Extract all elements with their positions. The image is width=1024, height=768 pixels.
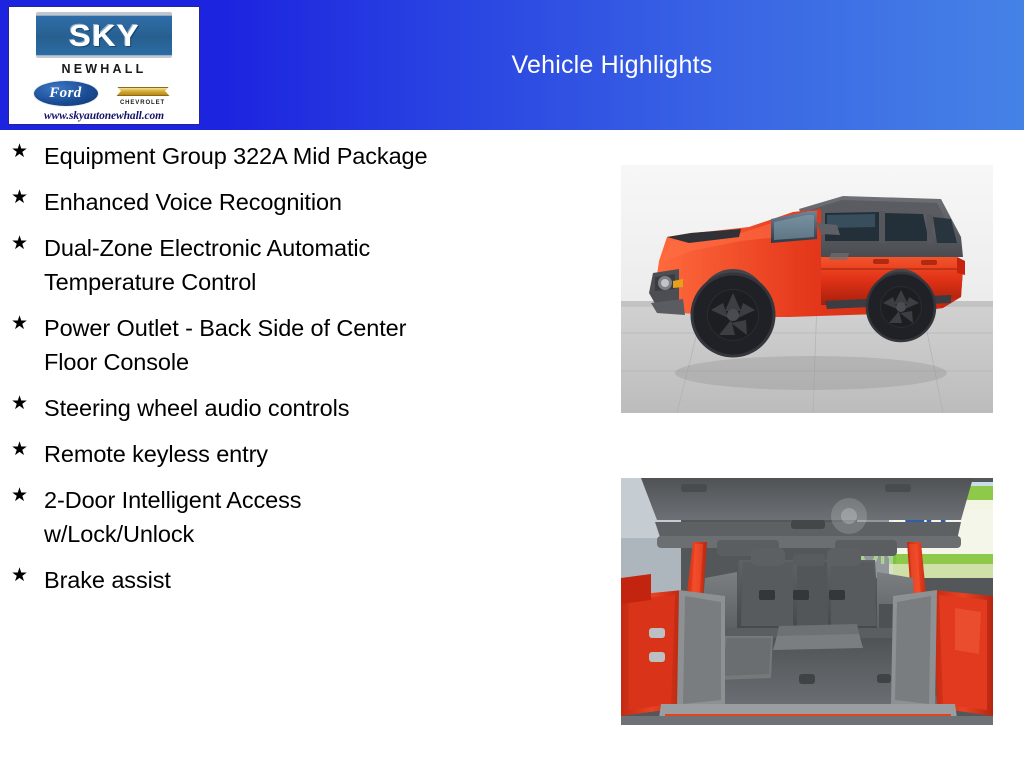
- highlight-item-label: Equipment Group 322A Mid Package: [44, 143, 427, 169]
- dealership-location-text: NEWHALL: [62, 62, 147, 76]
- highlight-item: ★Enhanced Voice Recognition: [0, 185, 600, 219]
- manufacturer-badges: Ford CHEVROLET: [9, 80, 199, 107]
- vehicle-photo-exterior[interactable]: [621, 165, 993, 413]
- highlight-item: ★Remote keyless entry: [0, 437, 600, 471]
- highlight-item-label: Power Outlet - Back Side of Center Floor…: [44, 315, 406, 375]
- highlight-item-label: Remote keyless entry: [44, 441, 268, 467]
- highlight-item-label: Dual-Zone Electronic Automatic Temperatu…: [44, 235, 370, 295]
- star-bullet-icon: ★: [11, 314, 28, 333]
- exterior-illustration: [621, 165, 993, 413]
- highlight-item-label: 2-Door Intelligent Access w/Lock/Unlock: [44, 487, 301, 547]
- page-header: SKY NEWHALL Ford CHEVROLET www.skyautone…: [0, 0, 1024, 130]
- ford-logo-icon: Ford: [33, 80, 99, 107]
- highlight-item-label: Brake assist: [44, 567, 171, 593]
- star-bullet-icon: ★: [11, 566, 28, 585]
- highlight-item: ★Steering wheel audio controls: [0, 391, 600, 425]
- highlight-item-label: Enhanced Voice Recognition: [44, 189, 342, 215]
- chevrolet-logo-text: CHEVROLET: [120, 100, 165, 106]
- vehicle-highlights-slide: SKY NEWHALL Ford CHEVROLET www.skyautone…: [0, 0, 1024, 768]
- highlight-item: ★Equipment Group 322A Mid Package: [0, 139, 600, 173]
- chevrolet-bowtie-shape: [113, 82, 173, 100]
- star-bullet-icon: ★: [11, 394, 28, 413]
- cargo-area-illustration: TH ON: [621, 478, 993, 725]
- highlight-item: ★Power Outlet - Back Side of Center Floo…: [0, 311, 600, 379]
- dealership-website-url[interactable]: www.skyautonewhall.com: [44, 110, 164, 122]
- star-bullet-icon: ★: [11, 440, 28, 459]
- highlights-list: ★Equipment Group 322A Mid Package★Enhanc…: [0, 139, 600, 609]
- star-bullet-icon: ★: [11, 142, 28, 161]
- sky-badge: SKY: [36, 12, 172, 58]
- page-title: Vehicle Highlights: [200, 0, 1024, 130]
- ford-logo-text: Ford: [49, 85, 81, 102]
- chevrolet-logo-icon: CHEVROLET: [110, 82, 176, 106]
- star-bullet-icon: ★: [11, 486, 28, 505]
- star-bullet-icon: ★: [11, 234, 28, 253]
- highlight-item: ★Dual-Zone Electronic Automatic Temperat…: [0, 231, 600, 299]
- highlight-item: ★2-Door Intelligent Access w/Lock/Unlock: [0, 483, 600, 551]
- vehicle-photo-cargo-area[interactable]: TH ON: [621, 478, 993, 725]
- dealership-logo[interactable]: SKY NEWHALL Ford CHEVROLET www.skyautone…: [8, 6, 200, 125]
- highlight-item-label: Steering wheel audio controls: [44, 395, 349, 421]
- page-title-text: Vehicle Highlights: [512, 51, 713, 80]
- sky-brand-text: SKY: [69, 20, 140, 51]
- highlight-item: ★Brake assist: [0, 563, 600, 597]
- star-bullet-icon: ★: [11, 188, 28, 207]
